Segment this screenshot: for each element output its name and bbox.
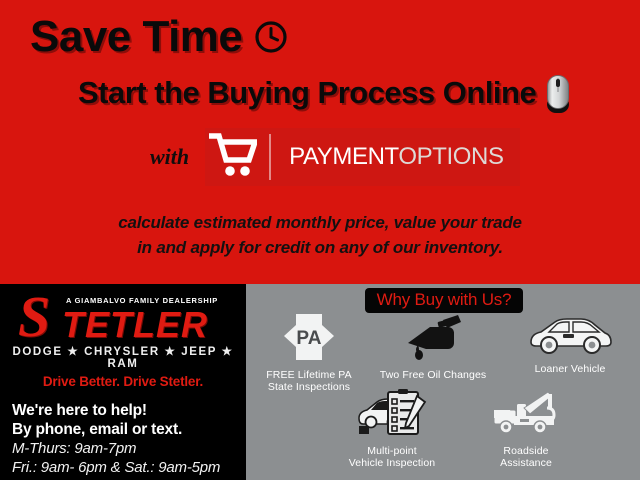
headline-row-2: Start the Buying Process Online xyxy=(78,74,568,112)
feature-label-line-1: Multi-point xyxy=(367,445,417,457)
car-icon xyxy=(504,312,636,360)
computer-mouse-icon xyxy=(546,74,568,112)
feature-label-line-1: Two Free Oil Changes xyxy=(380,369,486,381)
payment-options-wordmark: PAYMENTOPTIONS xyxy=(289,143,503,171)
oil-can-icon xyxy=(368,312,498,366)
payment-word: PAYMENT xyxy=(289,143,398,170)
pa-keystone-icon: PA xyxy=(254,312,364,366)
tow-truck-icon xyxy=(466,388,586,442)
stetler-logo-wordmark: TETLER xyxy=(62,306,208,344)
hero-section: Save Time Start the Buying Process Onlin… xyxy=(0,0,640,284)
hours-line-3: M-Thurs: 9am-7pm xyxy=(12,439,246,458)
tagline-line-1: calculate estimated monthly price, value… xyxy=(0,210,640,235)
svg-text:PA: PA xyxy=(296,328,321,349)
feature-label-line-1: Roadside xyxy=(503,445,548,457)
brand-list: DODGE ★ CHRYSLER ★ JEEP ★ RAM xyxy=(0,344,246,370)
hours-line-2: By phone, email or text. xyxy=(12,420,246,439)
page-subtitle: Start the Buying Process Online xyxy=(78,76,536,110)
payment-options-logo-row: with PAYMENTOPTIONS xyxy=(150,128,520,186)
contact-hours-block: We're here to help! By phone, email or t… xyxy=(12,401,246,477)
stetler-logo[interactable]: S A GIAMBALVO FAMILY DEALERSHIP TETLER D… xyxy=(0,284,246,366)
feature-multipoint-inspection: Multi-point Vehicle Inspection xyxy=(326,388,458,470)
dealership-promo-banner: Save Time Start the Buying Process Onlin… xyxy=(0,0,640,480)
why-buy-panel: Why Buy with Us? PA FREE Lifetime PA Sta… xyxy=(248,284,640,480)
feature-label-line-1: Loaner Vehicle xyxy=(535,363,606,375)
dealer-slogan: Drive Better. Drive Stetler. xyxy=(0,374,246,389)
with-label: with xyxy=(150,144,189,170)
logo-divider xyxy=(269,134,271,180)
why-buy-title: Why Buy with Us? xyxy=(365,288,524,313)
vehicle-inspection-clipboard-icon xyxy=(326,388,458,442)
feature-roadside-assistance: Roadside Assistance xyxy=(466,388,586,470)
dealer-info-panel: S A GIAMBALVO FAMILY DEALERSHIP TETLER D… xyxy=(0,284,246,480)
why-buy-title-wrap: Why Buy with Us? xyxy=(248,284,640,313)
feature-label-line-2: Vehicle Inspection xyxy=(349,457,435,469)
hours-line-4: Fri.: 9am- 6pm & Sat.: 9am-5pm xyxy=(12,458,246,477)
feature-loaner-vehicle: Loaner Vehicle xyxy=(504,312,636,375)
feature-free-pa-inspections: PA FREE Lifetime PA State Inspections xyxy=(254,312,364,394)
feature-two-free-oil-changes: Two Free Oil Changes xyxy=(368,312,498,381)
shopping-cart-icon xyxy=(209,132,257,183)
payment-options-logo[interactable]: PAYMENTOPTIONS xyxy=(205,128,519,186)
options-word: OPTIONS xyxy=(398,143,503,170)
clock-icon xyxy=(254,20,288,54)
feature-label-line-1: FREE Lifetime PA xyxy=(266,369,351,381)
page-title: Save Time xyxy=(30,14,242,60)
tagline-line-2: in and apply for credit on any of our in… xyxy=(0,235,640,260)
hero-tagline: calculate estimated monthly price, value… xyxy=(0,210,640,260)
stetler-logo-initial: S xyxy=(18,288,50,346)
feature-label-line-2: Assistance xyxy=(500,457,552,469)
headline-row-1: Save Time xyxy=(30,14,288,60)
hours-line-1: We're here to help! xyxy=(12,401,246,420)
